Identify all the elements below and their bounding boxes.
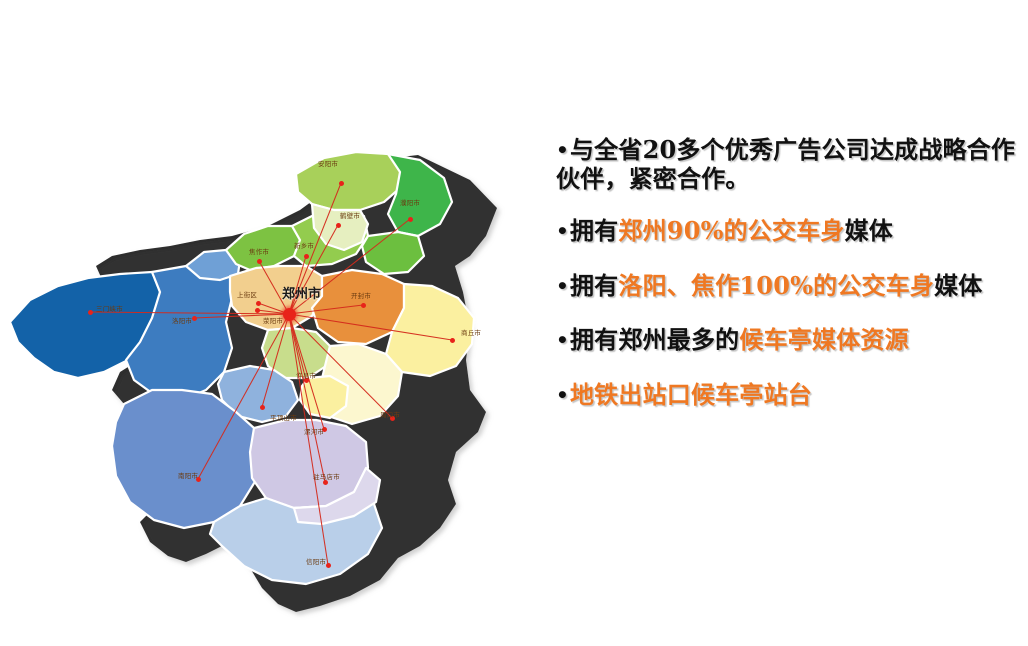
zhengzhou-hub-dot[interactable] (283, 308, 296, 321)
city-dot[interactable] (390, 416, 395, 421)
bullet-list: •与全省20多个优秀广告公司达成战略合作伙伴，紧密合作。•拥有郑州90%的公交车… (556, 136, 1018, 430)
city-dot[interactable] (361, 303, 366, 308)
bullet-marker-icon: • (556, 219, 569, 243)
city-dot[interactable] (323, 480, 328, 485)
city-dot[interactable] (322, 427, 327, 432)
zhengzhou-hub-label: 郑州市 (282, 283, 321, 302)
bullet-item-3: •拥有洛阳、焦作100%的公交车身媒体 (556, 272, 1018, 301)
city-dot[interactable] (196, 477, 201, 482)
bullet-item-2: •拥有郑州90%的公交车身媒体 (556, 217, 1018, 246)
bullet-text: 拥有 (570, 271, 618, 300)
henan-map: 安阳市鹤壁市濮阳市焦作市新乡市开封市商丘市上街区荥阳市三门峡市洛阳市许昌市平顶山… (0, 60, 540, 620)
map-svg (0, 60, 540, 620)
city-dot[interactable] (408, 217, 413, 222)
bullet-text: 媒体 (934, 271, 982, 300)
bullet-highlight-text: 郑州90%的公交车身 (618, 216, 844, 245)
bullet-item-5: •地铁出站口候车亭站台 (556, 381, 1018, 410)
city-dot[interactable] (336, 223, 341, 228)
city-dot[interactable] (339, 181, 344, 186)
bullet-item-1: •与全省20多个优秀广告公司达成战略合作伙伴，紧密合作。 (556, 136, 1018, 193)
bullet-marker-icon: • (556, 274, 569, 298)
bullet-highlight-text: 地铁出站口候车亭站台 (570, 380, 812, 409)
city-dot[interactable] (304, 378, 309, 383)
city-dot[interactable] (256, 301, 261, 306)
slide-canvas: 安阳市鹤壁市濮阳市焦作市新乡市开封市商丘市上街区荥阳市三门峡市洛阳市许昌市平顶山… (0, 0, 1028, 646)
bullet-highlight-text: 洛阳、焦作100%的公交车身 (618, 271, 934, 300)
bullet-highlight-text: 候车亭媒体资源 (739, 325, 908, 354)
city-dot[interactable] (88, 310, 93, 315)
city-dot[interactable] (260, 405, 265, 410)
region-kaifeng (312, 270, 404, 344)
city-dot[interactable] (326, 563, 331, 568)
bullet-marker-icon: • (556, 383, 569, 407)
city-dot[interactable] (450, 338, 455, 343)
bullet-marker-icon: • (556, 138, 569, 162)
bullet-text: 媒体 (845, 216, 893, 245)
bullet-text: 拥有郑州最多的 (570, 325, 739, 354)
city-dot[interactable] (192, 316, 197, 321)
bullet-marker-icon: • (556, 328, 569, 352)
bullet-item-4: •拥有郑州最多的候车亭媒体资源 (556, 326, 1018, 355)
city-dot[interactable] (304, 254, 309, 259)
city-dot[interactable] (257, 259, 262, 264)
bullet-text: 拥有 (570, 216, 618, 245)
city-dot[interactable] (255, 308, 260, 313)
bullet-text: 与全省20多个优秀广告公司达成战略合作伙伴，紧密合作。 (556, 135, 1015, 193)
